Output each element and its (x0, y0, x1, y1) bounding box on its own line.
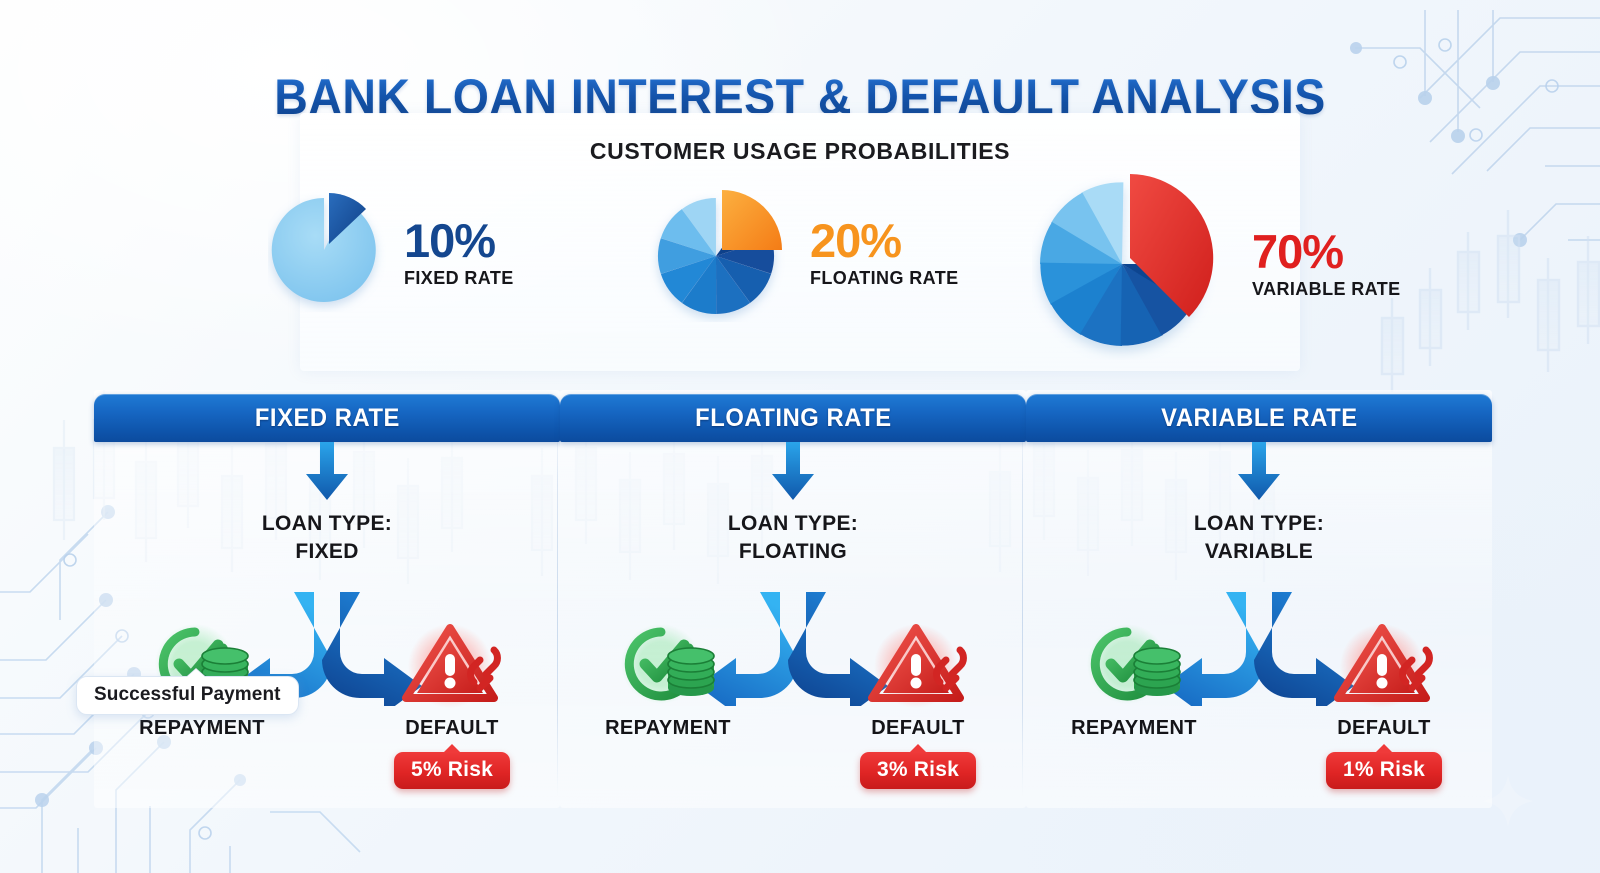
risk-badge[interactable]: 3% Risk (860, 752, 976, 789)
default-warning-icon (868, 622, 968, 708)
default-label: DEFAULT (1294, 717, 1474, 740)
coins-icon (668, 648, 714, 696)
default-label: DEFAULT (362, 717, 542, 740)
outcome-default-variable: DEFAULT 1% Risk (1294, 622, 1474, 789)
outcome-default-floating: DEFAULT 3% Risk (828, 622, 1008, 789)
pie-label-floating: FLOATING RATE (810, 268, 959, 289)
successful-payment-tooltip: Successful Payment (76, 676, 299, 715)
pie-chart-group: 10% FIXED RATE (0, 168, 1600, 358)
column-header-label: VARIABLE RATE (1161, 404, 1358, 433)
risk-badge[interactable]: 5% Risk (394, 752, 510, 789)
column-floating-rate: FLOATING RATE LOAN TYPE: FLOATING (560, 390, 1026, 808)
outcome-default-fixed: DEFAULT 5% Risk (362, 622, 542, 789)
pie-item-variable-rate: 70% VARIABLE RATE (1032, 164, 1401, 365)
panel-heading: CUSTOMER USAGE PROBABILITIES (0, 138, 1600, 165)
repayment-label: REPAYMENT (578, 717, 758, 740)
loan-type-text-floating: LOAN TYPE: FLOATING (560, 510, 1026, 565)
pie-percent-floating: 20% (810, 218, 959, 264)
loan-type-line2: FLOATING (739, 540, 847, 563)
loan-type-line1: LOAN TYPE: (262, 512, 392, 535)
outcome-repayment-variable: REPAYMENT (1044, 622, 1224, 740)
repayment-icon (1082, 622, 1186, 708)
pie-item-fixed-rate: 10% FIXED RATE (268, 190, 514, 317)
loan-flow-columns: FIXED RATE LOAN TYPE: FIXED (0, 390, 1600, 810)
infographic-canvas: BANK LOAN INTEREST & DEFAULT ANALYSIS CU… (0, 0, 1600, 873)
repayment-icon (616, 622, 720, 708)
loan-type-text-fixed: LOAN TYPE: FIXED (94, 510, 560, 565)
pie-text-fixed-rate: 10% FIXED RATE (404, 218, 514, 289)
column-header-fixed[interactable]: FIXED RATE (94, 394, 560, 442)
pie-text-floating-rate: 20% FLOATING RATE (810, 218, 959, 289)
column-fixed-rate: FIXED RATE LOAN TYPE: FIXED (94, 390, 560, 808)
pie-item-floating-rate: 20% FLOATING RATE (650, 180, 959, 327)
loan-type-text-variable: LOAN TYPE: VARIABLE (1026, 510, 1492, 565)
coins-icon (1134, 648, 1180, 696)
down-arrow-icon (770, 442, 816, 502)
pie-chart-floating-rate (650, 180, 792, 327)
outcome-repayment-floating: REPAYMENT (578, 622, 758, 740)
default-warning-icon (402, 622, 502, 708)
pie-chart-variable-rate (1032, 164, 1228, 365)
pie-chart-fixed-rate (268, 190, 386, 317)
column-header-label: FIXED RATE (254, 404, 399, 433)
pie-label-variable: VARIABLE RATE (1252, 279, 1401, 300)
column-header-label: FLOATING RATE (695, 404, 892, 433)
loan-type-line1: LOAN TYPE: (1194, 512, 1324, 535)
down-arrow-icon (304, 442, 350, 502)
repayment-label: REPAYMENT (112, 717, 292, 740)
repayment-label: REPAYMENT (1044, 717, 1224, 740)
down-arrow-icon (1236, 442, 1282, 502)
pie-label-fixed: FIXED RATE (404, 268, 514, 289)
default-warning-icon (1334, 622, 1434, 708)
loan-type-line2: FIXED (295, 540, 358, 563)
default-label: DEFAULT (828, 717, 1008, 740)
column-header-variable[interactable]: VARIABLE RATE (1026, 394, 1492, 442)
column-variable-rate: VARIABLE RATE LOAN TYPE: VARIABLE (1026, 390, 1492, 808)
loan-type-line1: LOAN TYPE: (728, 512, 858, 535)
loan-type-line2: VARIABLE (1205, 540, 1313, 563)
pie-text-variable-rate: 70% VARIABLE RATE (1252, 229, 1401, 300)
pie-percent-variable: 70% (1252, 229, 1401, 275)
column-header-floating[interactable]: FLOATING RATE (560, 394, 1026, 442)
risk-badge[interactable]: 1% Risk (1326, 752, 1442, 789)
pie-percent-fixed: 10% (404, 218, 514, 264)
